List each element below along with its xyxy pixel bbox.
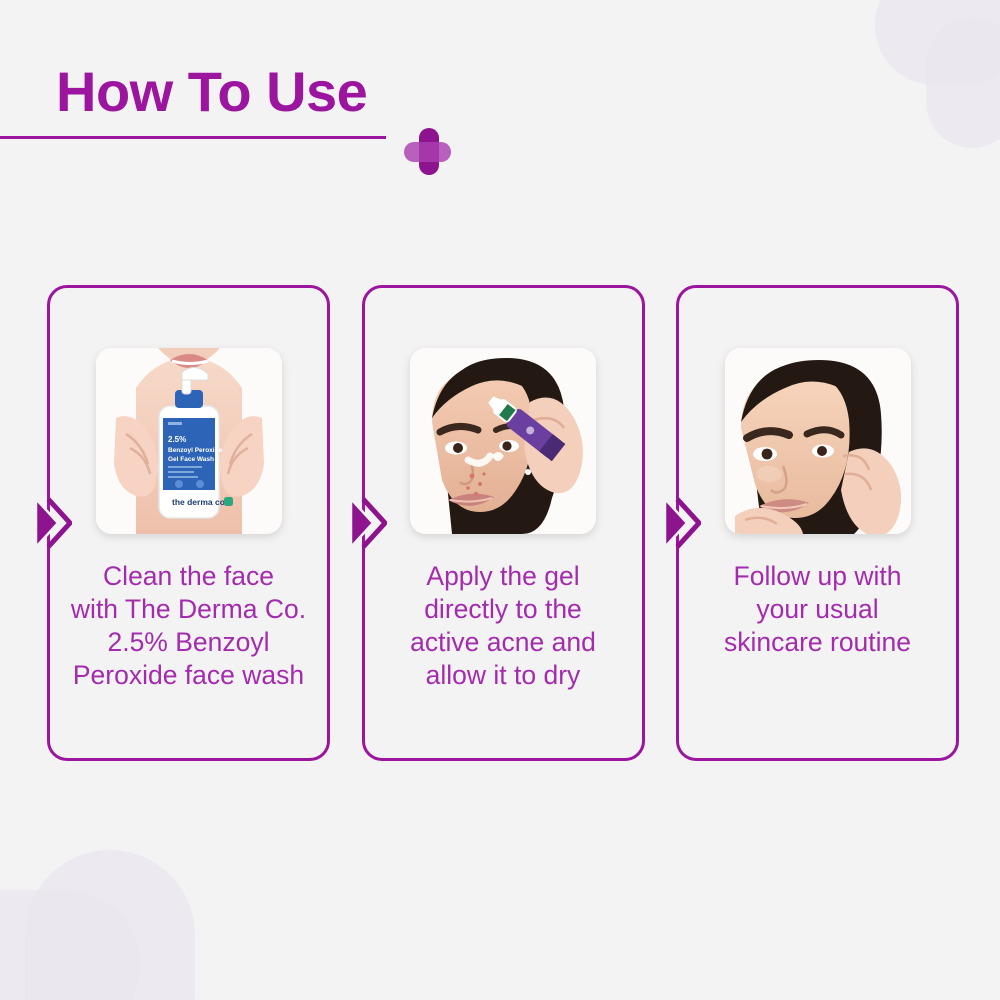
chevron-right-icon [28,491,72,555]
decorative-blob-top-right-2 [926,18,1000,148]
step-image-3 [725,348,911,534]
step-caption-1: Clean the face with The Derma Co. 2.5% B… [50,560,327,693]
title-underline [0,136,386,139]
step-caption-2: Apply the gel directly to the active acn… [365,560,642,693]
product-label-line2: Benzoyl Peroxide [168,447,223,454]
decorative-blob-bottom-left-2 [0,890,140,1000]
chevron-right-icon [343,491,387,555]
decorative-blob-top-right-1 [875,0,1000,85]
product-brand: the derma co [172,497,225,507]
product-label-line1: 2.5% [168,435,186,444]
steps-row: 2.5% Benzoyl Peroxide Gel Face Wash the … [47,285,959,761]
step-caption-3: Follow up with your usual skincare routi… [679,560,956,659]
header: How To Use [0,62,520,139]
plus-badge-horizontal-bar [404,142,451,162]
product-label-line3: Gel Face Wash [168,456,214,463]
step-card-2[interactable]: Apply the gel directly to the active acn… [362,285,645,761]
decorative-blob-bottom-left-1 [25,850,195,1000]
plus-badge-icon [404,128,452,176]
chevron-right-icon [657,491,701,555]
step-image-1: 2.5% Benzoyl Peroxide Gel Face Wash the … [96,348,282,534]
step-image-2 [410,348,596,534]
step-card-3[interactable]: Follow up with your usual skincare routi… [676,285,959,761]
page-title: How To Use [56,62,520,122]
step-card-1[interactable]: 2.5% Benzoyl Peroxide Gel Face Wash the … [47,285,330,761]
